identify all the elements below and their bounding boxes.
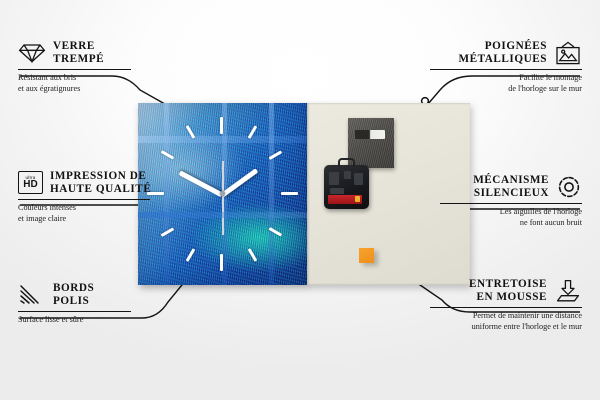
callout-impression-haute-qualite: ultra HD IMPRESSION DE HAUTE QUALITÉ Cou… xyxy=(18,170,168,225)
foam-spacer xyxy=(359,248,374,263)
callout-title: MÉCANISME xyxy=(473,174,549,187)
callout-title-2: TREMPÉ xyxy=(53,53,104,66)
callout-entretoise-en-mousse: ENTRETOISE EN MOUSSE Permet de maintenir… xyxy=(430,278,582,333)
divider xyxy=(18,69,131,71)
callout-desc-1: Surface lisse et sûre xyxy=(18,315,158,326)
divider xyxy=(440,203,582,205)
quartz-mechanism xyxy=(324,165,369,209)
callout-desc-1: Les aiguilles de l'horloge xyxy=(440,207,582,218)
battery xyxy=(328,195,362,204)
ultra-hd-icon: ultra HD xyxy=(18,171,43,194)
diamond-icon xyxy=(18,42,46,64)
infographic-stage: VERRE TREMPÉ Résistant aux bris et aux é… xyxy=(0,0,600,400)
picture-frame-hanger-icon xyxy=(554,41,582,65)
callout-title: POIGNÉES xyxy=(458,40,547,53)
callout-title: VERRE xyxy=(53,40,104,53)
callout-title-2: MÉTALLIQUES xyxy=(458,53,547,66)
callout-poignees-metalliques: POIGNÉES MÉTALLIQUES Facilite le montage… xyxy=(430,40,582,95)
divider xyxy=(18,311,131,313)
callout-desc-2: de l'horloge sur le mur xyxy=(430,84,582,95)
divider xyxy=(18,199,150,201)
callout-title-2: POLIS xyxy=(53,295,94,308)
polished-edges-icon xyxy=(18,284,46,306)
product-image xyxy=(138,103,470,285)
callout-desc-1: Facilite le montage xyxy=(430,73,582,84)
callout-desc-2: ne font aucun bruit xyxy=(440,218,582,229)
ultra-hd-big-label: HD xyxy=(23,180,37,190)
callout-title: IMPRESSION DE xyxy=(50,170,151,183)
arrow-down-onto-pad-icon xyxy=(554,279,582,303)
callout-title-2: HAUTE QUALITÉ xyxy=(50,183,151,196)
callout-desc-1: Permet de maintenir une distance xyxy=(430,311,582,322)
callout-desc-1: Résistant aux bris xyxy=(18,73,158,84)
divider xyxy=(430,69,582,71)
gear-icon xyxy=(556,175,582,199)
divider xyxy=(430,307,582,309)
callout-bords-polis: BORDS POLIS Surface lisse et sûre xyxy=(18,282,158,326)
callout-title-2: SILENCIEUX xyxy=(473,187,549,200)
callout-mecanisme-silencieux: MÉCANISME SILENCIEUX Les aiguilles de l'… xyxy=(440,174,582,229)
callout-title-2: EN MOUSSE xyxy=(469,291,547,304)
callout-desc-2: et aux égratignures xyxy=(18,84,158,95)
callout-desc-2: et image claire xyxy=(18,214,168,225)
callout-desc-1: Couleurs intenses xyxy=(18,203,168,214)
callout-desc-2: uniforme entre l'horloge et le mur xyxy=(430,322,582,333)
callout-title: ENTRETOISE xyxy=(469,278,547,291)
callout-title: BORDS xyxy=(53,282,94,295)
callout-verre-trempe: VERRE TREMPÉ Résistant aux bris et aux é… xyxy=(18,40,158,95)
